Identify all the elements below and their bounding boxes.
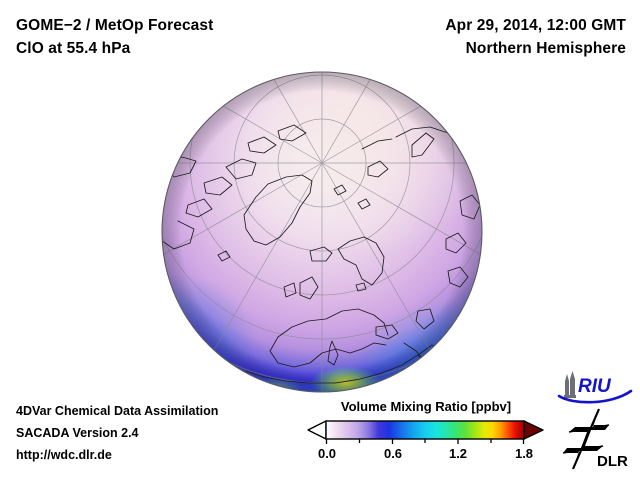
colorbar-tick-0: 0.0 — [318, 446, 336, 461]
colorbar-tick-1: 0.6 — [384, 446, 402, 461]
limb-shading — [162, 72, 482, 392]
colorbar-tick-2: 1.2 — [449, 446, 467, 461]
riu-logo: RIU — [557, 369, 633, 405]
colorbar-under-cap — [308, 421, 326, 439]
colorbar-scale — [306, 419, 546, 445]
header-right: Apr 29, 2014, 12:00 GMT Northern Hemisph… — [445, 14, 626, 60]
colorbar-over-cap — [524, 421, 543, 439]
orthographic-projection — [160, 71, 484, 395]
riu-wordmark: RIU — [578, 376, 612, 397]
version-label: SACADA Version 2.4 — [16, 422, 218, 444]
colorbar-gradient — [326, 421, 524, 439]
figure-canvas: GOME−2 / MetOp Forecast ClO at 55.4 hPa … — [0, 0, 640, 480]
dlr-logo: DLR — [563, 408, 633, 470]
website-url[interactable]: http://wdc.dlr.de — [16, 444, 218, 466]
colorbar-tick-3: 1.8 — [515, 446, 533, 461]
instrument-title: GOME−2 / MetOp Forecast — [16, 14, 213, 37]
colorbar-ticks — [327, 439, 524, 444]
colorbar: Volume Mixing Ratio [ppbv] — [306, 399, 546, 464]
cathedral-icon — [564, 371, 576, 398]
method-label: 4DVar Chemical Data Assimilation — [16, 400, 218, 422]
colorbar-tick-labels: 0.0 0.6 1.2 1.8 — [306, 446, 546, 464]
colorbar-title: Volume Mixing Ratio [ppbv] — [306, 399, 546, 414]
region-label: Northern Hemisphere — [445, 37, 626, 60]
species-level-title: ClO at 55.4 hPa — [16, 37, 213, 60]
forecast-datetime: Apr 29, 2014, 12:00 GMT — [445, 14, 626, 37]
footer-credits: 4DVar Chemical Data Assimilation SACADA … — [16, 400, 218, 466]
header-left: GOME−2 / MetOp Forecast ClO at 55.4 hPa — [16, 14, 213, 60]
globe-map — [160, 71, 484, 395]
dlr-wordmark: DLR — [597, 453, 628, 470]
